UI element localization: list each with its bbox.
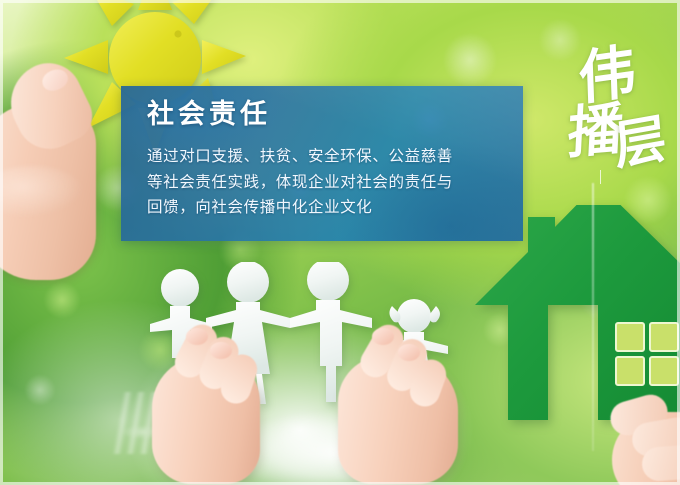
caption-panel: 社会责任 通过对口支援、扶贫、安全环保、公益慈善 等社会责任实践，体现企业对社会… bbox=[121, 86, 523, 241]
panel-body-line-1: 通过对口支援、扶贫、安全环保、公益慈善 bbox=[147, 144, 503, 170]
adult-hand-holding-sun bbox=[0, 58, 128, 288]
child-hand-left bbox=[152, 330, 272, 485]
panel-body: 通过对口支援、扶贫、安全环保、公益慈善 等社会责任实践，体现企业对社会的责任与 … bbox=[147, 144, 503, 221]
panel-title: 社会责任 bbox=[147, 100, 271, 130]
panel-body-line-2: 等社会责任实践，体现企业对社会的责任与 bbox=[147, 170, 503, 196]
poster-canvas: 社会责任 通过对口支援、扶贫、安全环保、公益慈善 等社会责任实践，体现企业对社会… bbox=[0, 0, 680, 485]
paper-fold-crease bbox=[592, 183, 594, 451]
child-hand-right bbox=[338, 330, 468, 485]
adult-hand-holding-house bbox=[612, 390, 680, 485]
panel-body-line-3: 回馈，向社会传播中化企业文化 bbox=[147, 195, 503, 221]
